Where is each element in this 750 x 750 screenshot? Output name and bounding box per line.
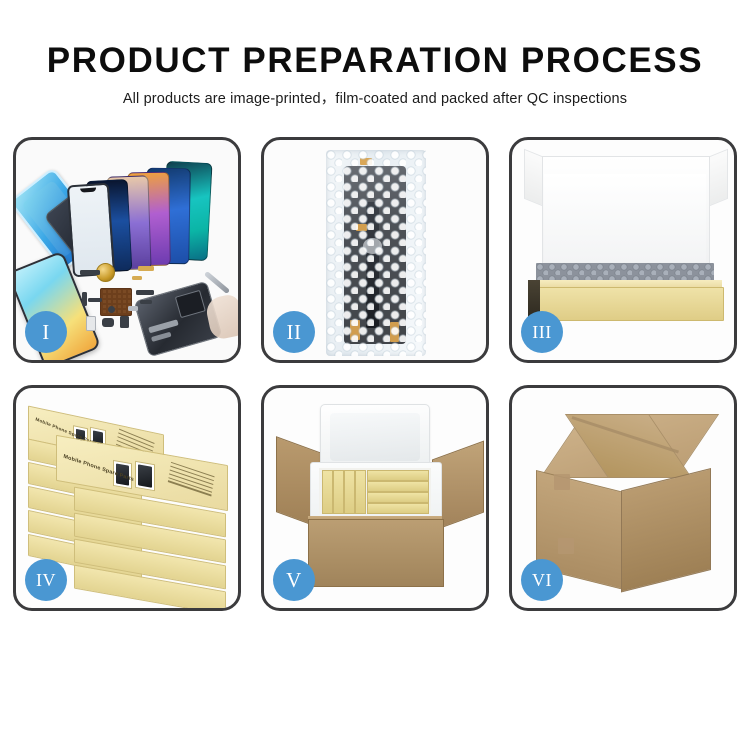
part-gold-strip (138, 266, 154, 271)
part-gold-strip-2 (132, 276, 142, 280)
inner-box-h-2 (367, 481, 429, 492)
inner-box-v-2 (333, 470, 344, 514)
inner-box-v-3 (344, 470, 355, 514)
part-flex-cable-4 (140, 300, 152, 304)
part-flex-cable-3 (136, 290, 154, 295)
part-screw (108, 306, 115, 313)
panel-badge-2: II (273, 311, 315, 353)
part-metal-bracket (128, 306, 138, 311)
carton-side-face (621, 468, 711, 592)
part-connector-bar (80, 270, 100, 275)
inner-box-v-4 (355, 470, 366, 514)
panel-stacked-boxes[interactable]: Mobile Phone Spare Parts Mobile (13, 385, 241, 611)
panel-badge-4: IV (25, 559, 67, 601)
inner-box-h-4 (367, 503, 429, 514)
panel-badge-3: III (521, 311, 563, 353)
product-preparation-infographic: PRODUCT PREPARATION PROCESS All products… (0, 0, 750, 750)
panel-badge-1: I (25, 311, 67, 353)
part-speaker (102, 318, 114, 327)
foam-lid-icon (320, 404, 430, 470)
inner-box-v-1 (322, 470, 333, 514)
foam-sheet-icon (544, 174, 706, 262)
housing-detail-2 (151, 332, 172, 342)
lid-text-block-front (167, 462, 214, 499)
box-front-panel (528, 287, 724, 321)
page-subtitle: All products are image-printed，film-coat… (0, 90, 750, 108)
part-sim-tray (86, 316, 96, 331)
part-flex-cable-2 (88, 298, 102, 302)
panel-phone-parts[interactable]: I (13, 137, 241, 363)
housing-detail-1 (148, 319, 178, 333)
panel-sealed-carton[interactable]: VI (509, 385, 737, 611)
bubble-texture (326, 150, 426, 356)
carton-front-panel (308, 519, 444, 587)
panel-foam-carton[interactable]: V (261, 385, 489, 611)
bubble-bag-icon (326, 150, 426, 356)
chip-array-part-icon (100, 288, 132, 316)
carton-tape-top (554, 474, 570, 490)
panel-open-inner-box[interactable]: III (509, 137, 737, 363)
inner-box-h-1 (367, 470, 429, 481)
panel-badge-6: VI (521, 559, 563, 601)
panel-bubble-wrapped[interactable]: II (261, 137, 489, 363)
process-grid: I II (13, 137, 737, 611)
process-row-2: Mobile Phone Spare Parts Mobile (13, 385, 737, 611)
carton-tape-bottom (558, 538, 574, 554)
lid-window-front-2 (135, 461, 155, 492)
header: PRODUCT PREPARATION PROCESS All products… (0, 0, 750, 108)
camera-module-icon (175, 290, 206, 318)
process-row-1: I II (13, 137, 737, 363)
part-button (120, 316, 129, 328)
part-flex-cable-1 (82, 292, 87, 306)
panel-badge-5: V (273, 559, 315, 601)
page-title: PRODUCT PREPARATION PROCESS (0, 41, 750, 81)
notch-icon (80, 188, 96, 193)
inner-box-h-3 (367, 492, 429, 503)
